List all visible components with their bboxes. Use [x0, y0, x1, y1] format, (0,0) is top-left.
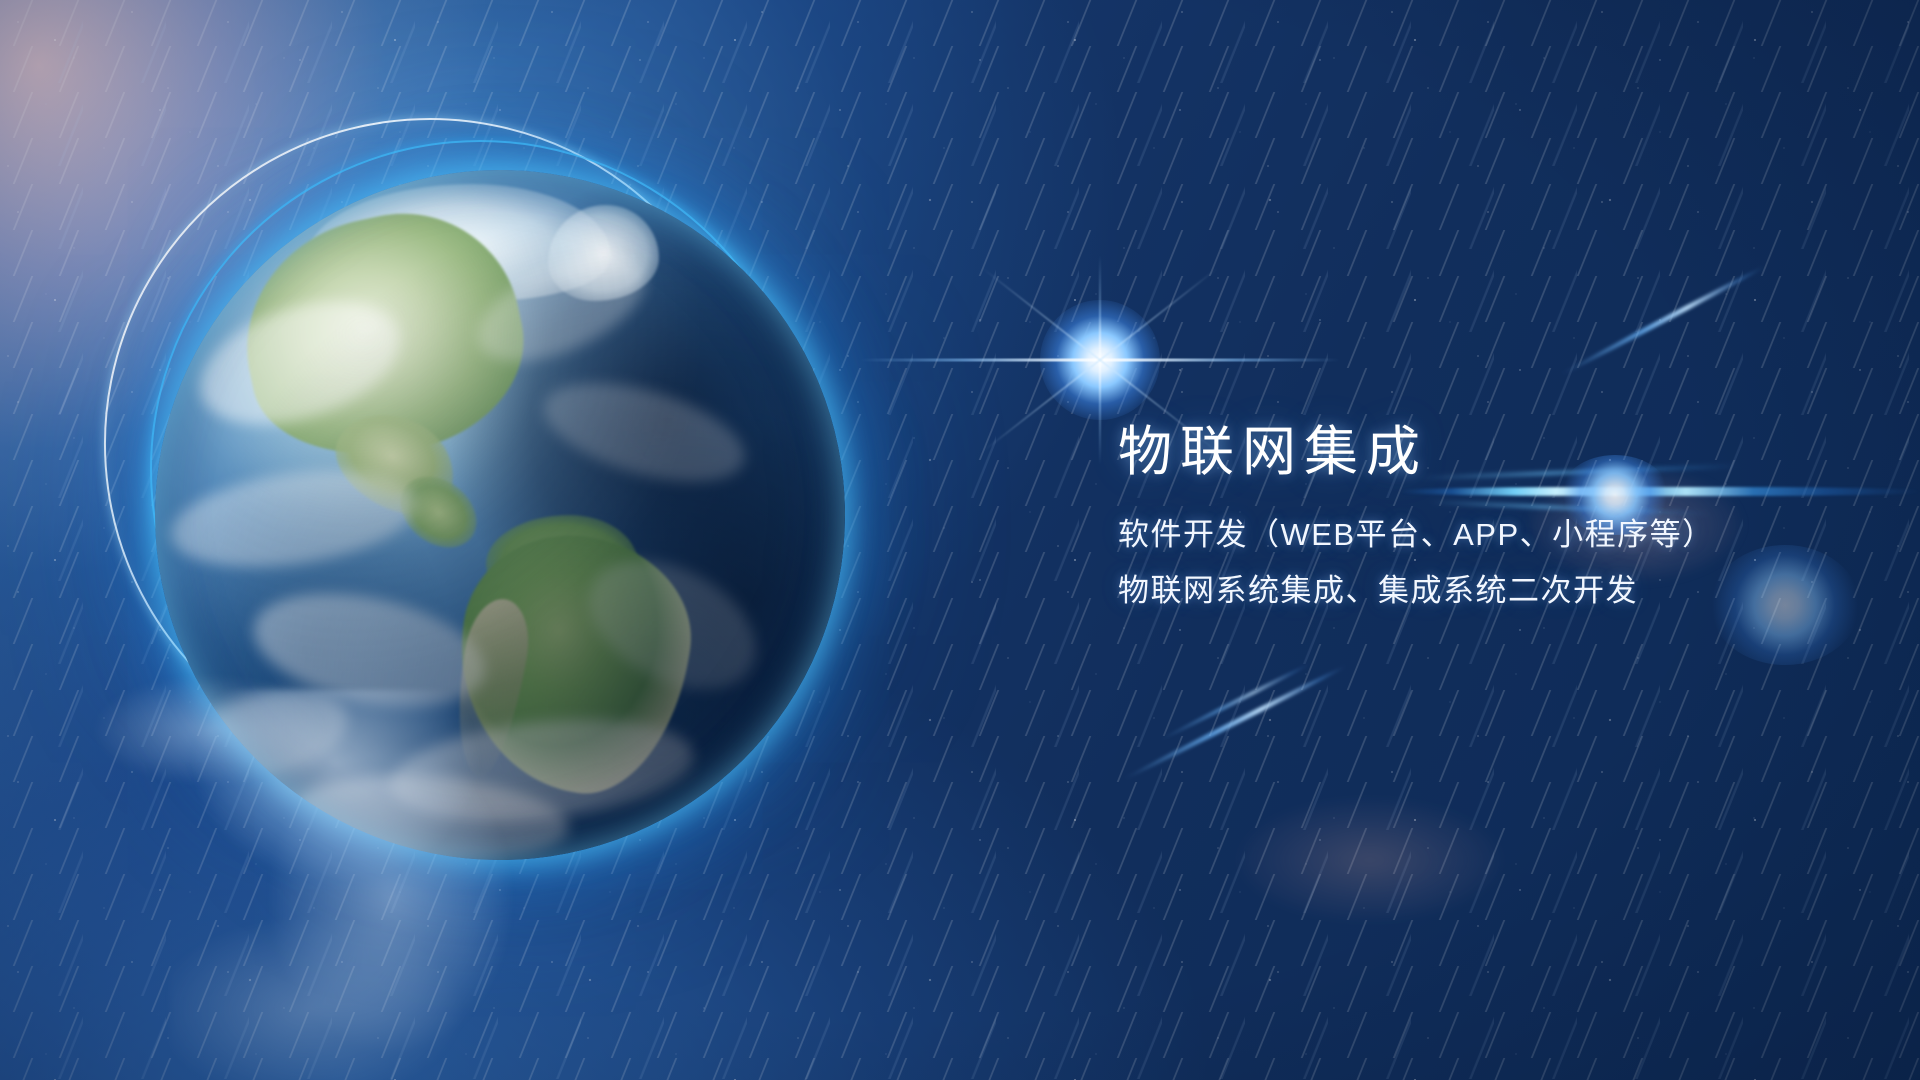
- meteor-streak-lower-center-2: [1158, 662, 1311, 743]
- earth-globe: [155, 170, 845, 860]
- banner-copy: 物联网集成 软件开发（WEB平台、APP、小程序等） 物联网系统集成、集成系统二…: [1118, 418, 1878, 618]
- banner-subtitle-line-1: 软件开发（WEB平台、APP、小程序等）: [1118, 508, 1878, 562]
- warm-glow-spot: [1240, 800, 1500, 920]
- globe-rim-light: [155, 170, 845, 860]
- meteor-streak-lower-center: [1122, 664, 1347, 782]
- earth-globe-group: [0, 0, 980, 1080]
- meteor-streak-upper-right: [1560, 264, 1765, 376]
- hero-banner: 物联网集成 软件开发（WEB平台、APP、小程序等） 物联网系统集成、集成系统二…: [0, 0, 1920, 1080]
- banner-subtitle-line-2: 物联网系统集成、集成系统二次开发: [1118, 564, 1878, 618]
- page-title: 物联网集成: [1118, 418, 1878, 486]
- lens-flare-core-left: [1040, 300, 1160, 420]
